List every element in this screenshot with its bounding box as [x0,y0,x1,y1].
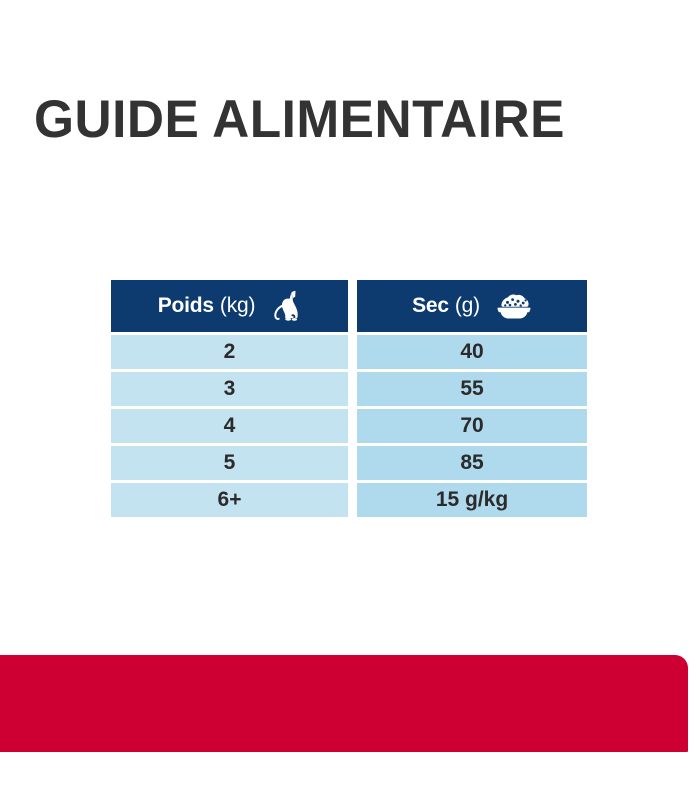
table-row: 2 40 [111,335,587,369]
table-header-row: Poids (kg) Sec (g) [111,280,587,332]
cell-weight: 6+ [111,483,348,517]
food-bowl-icon [496,291,532,321]
column-header-weight-unit: (kg) [220,294,255,318]
column-header-dry-unit: (g) [455,294,480,318]
column-header-dry: Sec (g) [357,280,587,332]
cell-dry: 70 [357,409,587,443]
cell-weight: 5 [111,446,348,480]
cell-dry: 85 [357,446,587,480]
cell-dry: 55 [357,372,587,406]
feeding-guide-table: Poids (kg) Sec (g) [111,280,587,517]
column-header-weight: Poids (kg) [111,280,348,332]
cell-dry: 40 [357,335,587,369]
footer-red-band [0,655,688,752]
cell-weight: 4 [111,409,348,443]
cell-weight: 3 [111,372,348,406]
column-header-weight-label: Poids [158,294,214,318]
cell-dry: 15 g/kg [357,483,587,517]
column-header-dry-label: Sec [412,294,449,318]
table-row: 6+ 15 g/kg [111,483,587,517]
cat-icon [271,290,301,322]
page-title: GUIDE ALIMENTAIRE [34,93,565,146]
table-row: 4 70 [111,409,587,443]
table-row: 3 55 [111,372,587,406]
table-row: 5 85 [111,446,587,480]
cell-weight: 2 [111,335,348,369]
